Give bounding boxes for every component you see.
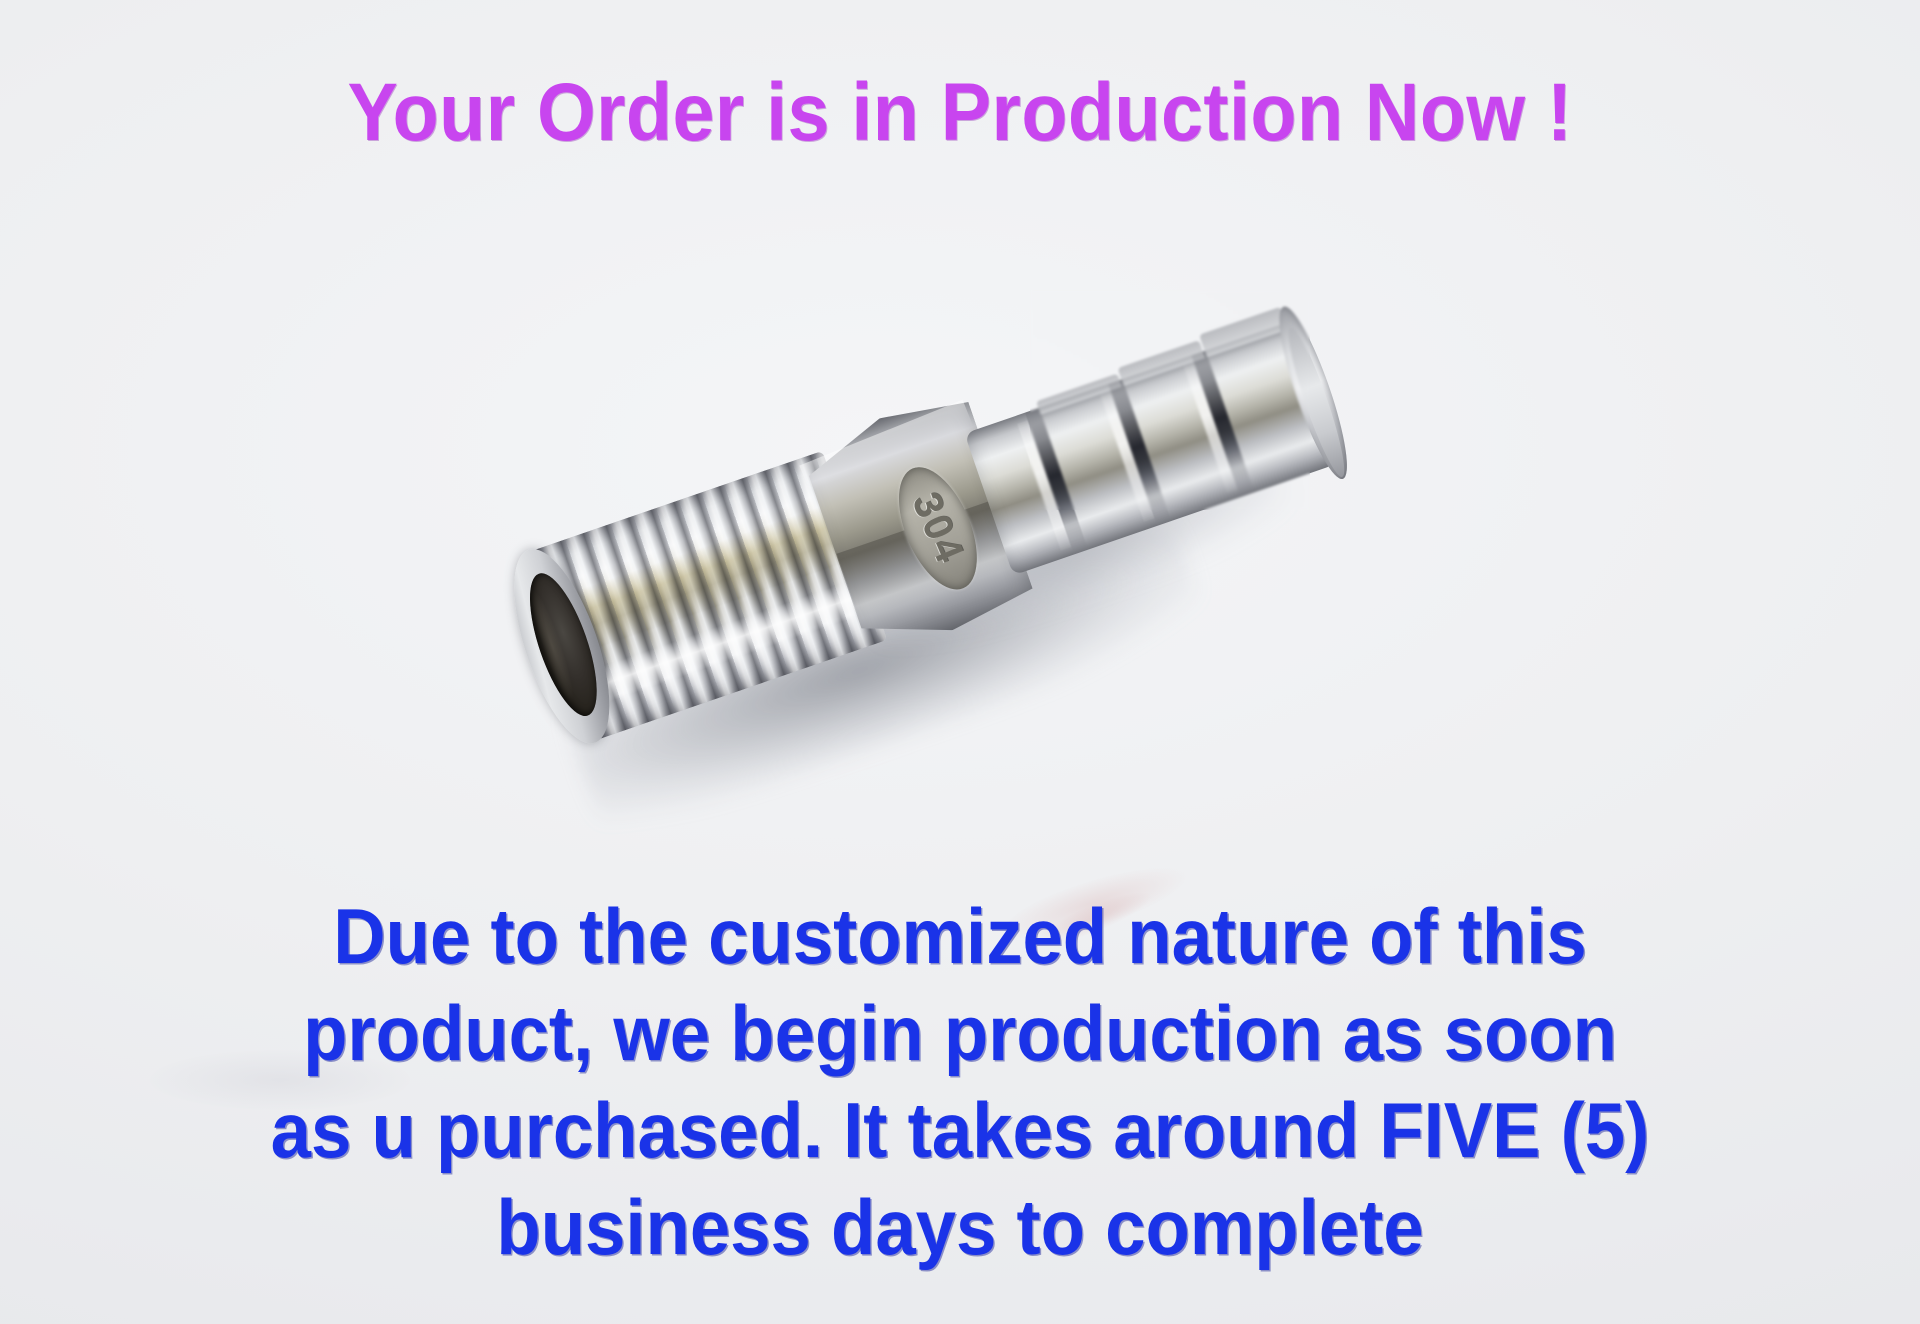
barb-groove: [1108, 379, 1171, 526]
barbed-end: [964, 319, 1346, 575]
page-title: Your Order is in Production Now !: [77, 72, 1843, 154]
product-photo: 304: [470, 290, 1450, 760]
barb-groove: [1025, 408, 1088, 555]
notice-line: as u purchased. It takes around FIVE (5): [67, 1082, 1853, 1179]
promo-banner: Your Order is in Production Now ! 304: [0, 0, 1920, 1324]
production-notice: Due to the customized nature of this pro…: [67, 888, 1853, 1276]
barb-shoulder: [1199, 307, 1288, 358]
notice-line: product, we begin production as soon: [67, 985, 1853, 1082]
notice-line: business days to complete: [67, 1179, 1853, 1276]
barb-tip-face: [1280, 324, 1352, 481]
notice-line: Due to the customized nature of this: [67, 888, 1853, 985]
barb-groove: [1191, 351, 1254, 498]
